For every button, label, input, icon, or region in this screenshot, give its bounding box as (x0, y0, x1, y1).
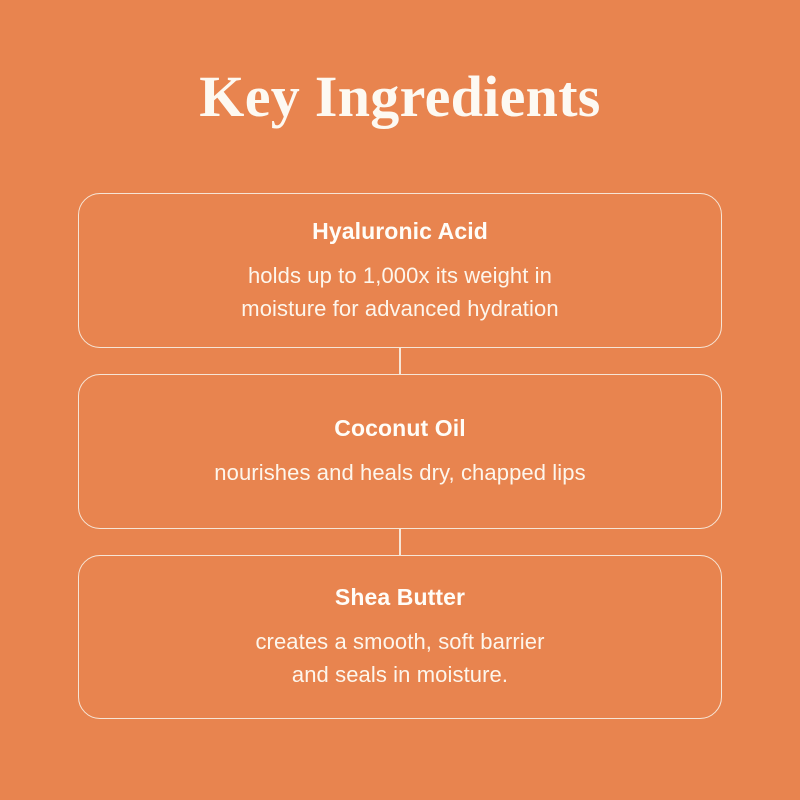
ingredient-card-hyaluronic-acid[interactable]: Hyaluronic Acid holds up to 1,000x its w… (78, 193, 722, 348)
key-ingredients-infographic: Key Ingredients Hyaluronic Acid holds up… (0, 0, 800, 800)
connector-line-1 (78, 348, 722, 374)
ingredient-card-shea-butter[interactable]: Shea Butter creates a smooth, soft barri… (78, 555, 722, 719)
page-title: Key Ingredients (0, 66, 800, 128)
ingredient-description: nourishes and heals dry, chapped lips (214, 456, 585, 489)
ingredient-title: Hyaluronic Acid (312, 217, 488, 245)
ingredient-card-stack: Hyaluronic Acid holds up to 1,000x its w… (78, 193, 722, 719)
connector-line-2 (78, 529, 722, 555)
ingredient-description: creates a smooth, soft barrier and seals… (255, 625, 544, 691)
ingredient-title: Shea Butter (335, 583, 465, 611)
ingredient-card-coconut-oil[interactable]: Coconut Oil nourishes and heals dry, cha… (78, 374, 722, 529)
ingredient-title: Coconut Oil (334, 414, 465, 442)
ingredient-description: holds up to 1,000x its weight in moistur… (241, 259, 558, 325)
